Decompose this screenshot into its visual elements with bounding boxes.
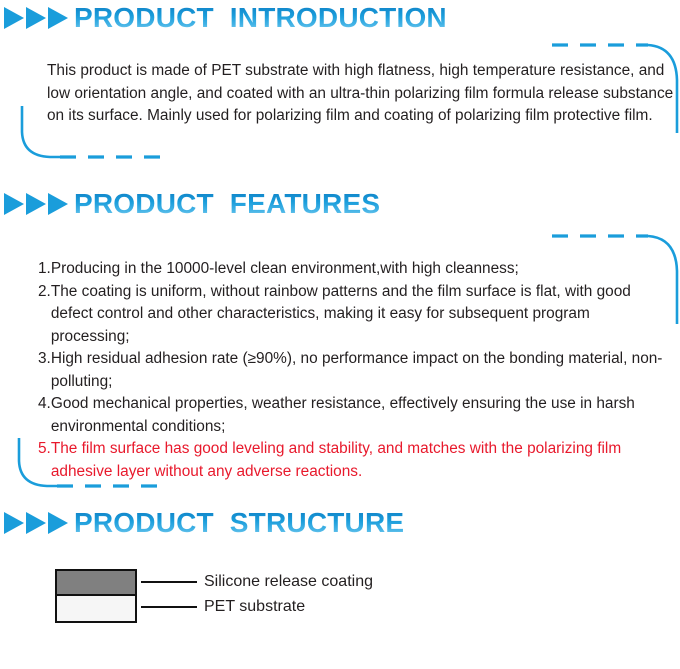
layer-pet-substrate (57, 596, 135, 621)
list-item-text: High residual adhesion rate (≥90%), no p… (51, 348, 663, 393)
list-item-number: 4. (38, 393, 51, 416)
list-item-text: Good mechanical properties, weather resi… (51, 393, 663, 438)
list-item-number: 3. (38, 348, 51, 371)
list-item-text: The coating is uniform, without rainbow … (51, 281, 663, 349)
heading-text-structure: PRODUCT STRUCTURE (74, 509, 404, 537)
list-item: 2. The coating is uniform, without rainb… (38, 281, 663, 349)
list-item-highlighted: 5. The film surface has good leveling an… (38, 438, 663, 483)
introduction-paragraph: This product is made of PET substrate wi… (47, 60, 674, 128)
triangle-right-icon (4, 193, 24, 215)
introduction-paragraph-block: This product is made of PET substrate wi… (47, 60, 674, 128)
triangle-marker-group-features (4, 193, 68, 215)
triangle-marker-group-introduction (4, 7, 68, 29)
triangle-right-icon (26, 512, 46, 534)
triangle-right-icon (4, 512, 24, 534)
list-item: 4. Good mechanical properties, weather r… (38, 393, 663, 438)
list-item-number: 1. (38, 258, 51, 281)
triangle-right-icon (48, 512, 68, 534)
leader-line-substrate (141, 606, 197, 608)
list-item-text: Producing in the 10000-level clean envir… (51, 258, 663, 281)
leader-line-coating (141, 581, 197, 583)
layer-silicone-release-coating (57, 571, 135, 596)
list-item-text: The film surface has good leveling and s… (51, 438, 663, 483)
section-heading-introduction: PRODUCT INTRODUCTION (4, 0, 447, 36)
layer-label-coating: Silicone release coating (204, 573, 373, 591)
triangle-right-icon (26, 7, 46, 29)
triangle-right-icon (48, 193, 68, 215)
structure-diagram: Silicone release coating PET substrate (0, 569, 680, 629)
list-item: 1. Producing in the 10000-level clean en… (38, 258, 663, 281)
section-heading-features: PRODUCT FEATURES (4, 186, 380, 222)
list-item-number: 5. (38, 438, 51, 461)
section-heading-structure: PRODUCT STRUCTURE (4, 505, 404, 541)
features-list: 1. Producing in the 10000-level clean en… (38, 258, 663, 483)
triangle-right-icon (26, 193, 46, 215)
list-item: 3. High residual adhesion rate (≥90%), n… (38, 348, 663, 393)
heading-text-features: PRODUCT FEATURES (74, 190, 380, 218)
layer-label-substrate: PET substrate (204, 598, 305, 616)
heading-text-introduction: PRODUCT INTRODUCTION (74, 4, 447, 32)
triangle-right-icon (48, 7, 68, 29)
triangle-right-icon (4, 7, 24, 29)
triangle-marker-group-structure (4, 512, 68, 534)
list-item-number: 2. (38, 281, 51, 304)
product-datasheet-page: PRODUCT INTRODUCTION This product is mad… (0, 0, 680, 669)
layer-stack (55, 569, 137, 623)
